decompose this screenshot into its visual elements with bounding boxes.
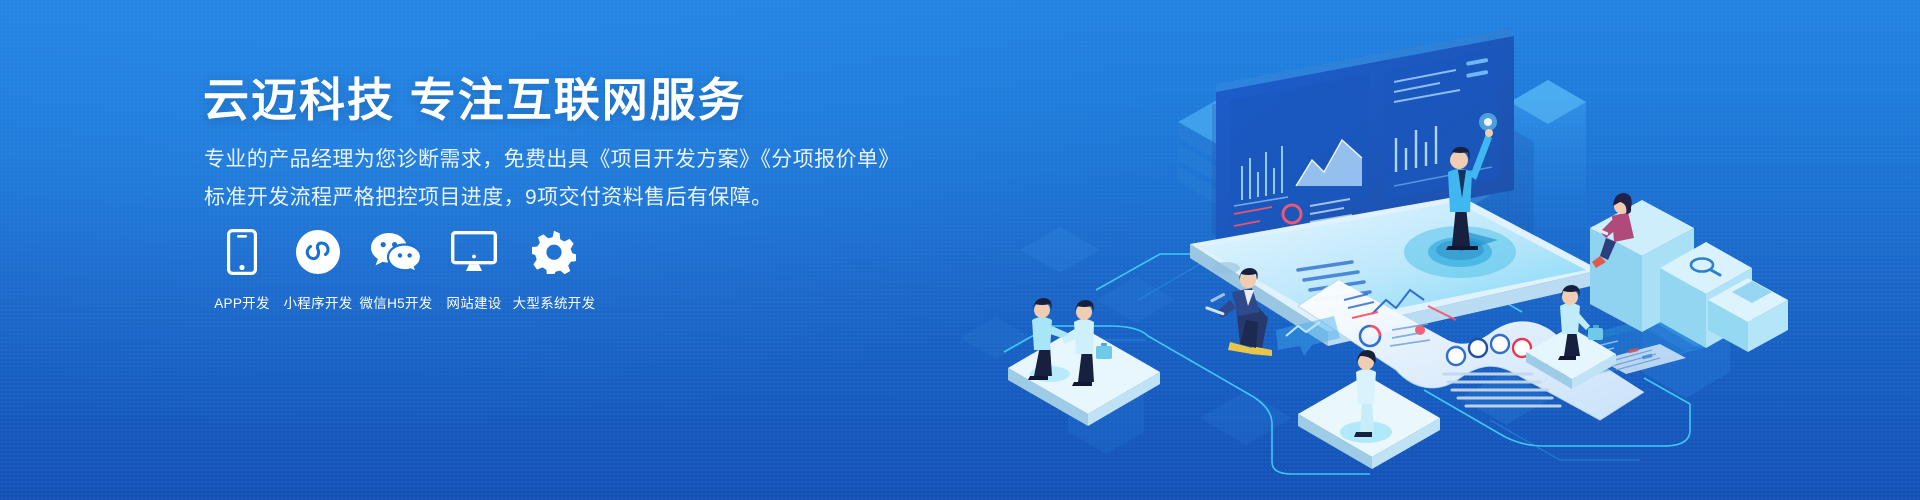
- hero-subtitle: 专业的产品经理为您诊断需求，免费出具《项目开发方案》《分项报价单》 标准开发流程…: [204, 143, 900, 214]
- page-title: 云迈科技 专注互联网服务: [203, 73, 746, 127]
- hero-content: 云迈科技 专注互联网服务 专业的产品经理为您诊断需求，免费出具《项目开发方案》《…: [203, 0, 923, 500]
- service-item-website[interactable]: 网站建设: [435, 228, 513, 312]
- subtitle-line-2: 标准开发流程严格把控项目进度，9项交付资料售后有保障。: [204, 181, 900, 214]
- service-item-miniprogram[interactable]: 小程序开发: [279, 228, 357, 312]
- wechat-icon: [370, 228, 422, 276]
- service-list: APP开发 小程序开发: [203, 228, 593, 312]
- service-item-app[interactable]: APP开发: [203, 228, 281, 312]
- hero-banner: 云迈科技 专注互联网服务 专业的产品经理为您诊断需求，免费出具《项目开发方案》《…: [0, 0, 1920, 500]
- isometric-illustration: [900, 0, 1920, 500]
- service-label-wechat: 微信H5开发: [359, 292, 432, 312]
- subtitle-line-1: 专业的产品经理为您诊断需求，免费出具《项目开发方案》《分项报价单》: [204, 143, 900, 176]
- service-item-system[interactable]: 大型系统开发: [515, 228, 593, 312]
- service-label-miniprogram: 小程序开发: [284, 292, 353, 312]
- gear-icon: [532, 228, 576, 276]
- mobile-phone-icon: [227, 228, 257, 276]
- service-label-app: APP开发: [214, 292, 270, 312]
- service-item-wechat[interactable]: 微信H5开发: [357, 228, 435, 312]
- service-label-website: 网站建设: [446, 292, 501, 312]
- monitor-icon: [451, 228, 497, 276]
- service-label-system: 大型系统开发: [513, 292, 596, 312]
- mini-program-icon: [295, 228, 341, 276]
